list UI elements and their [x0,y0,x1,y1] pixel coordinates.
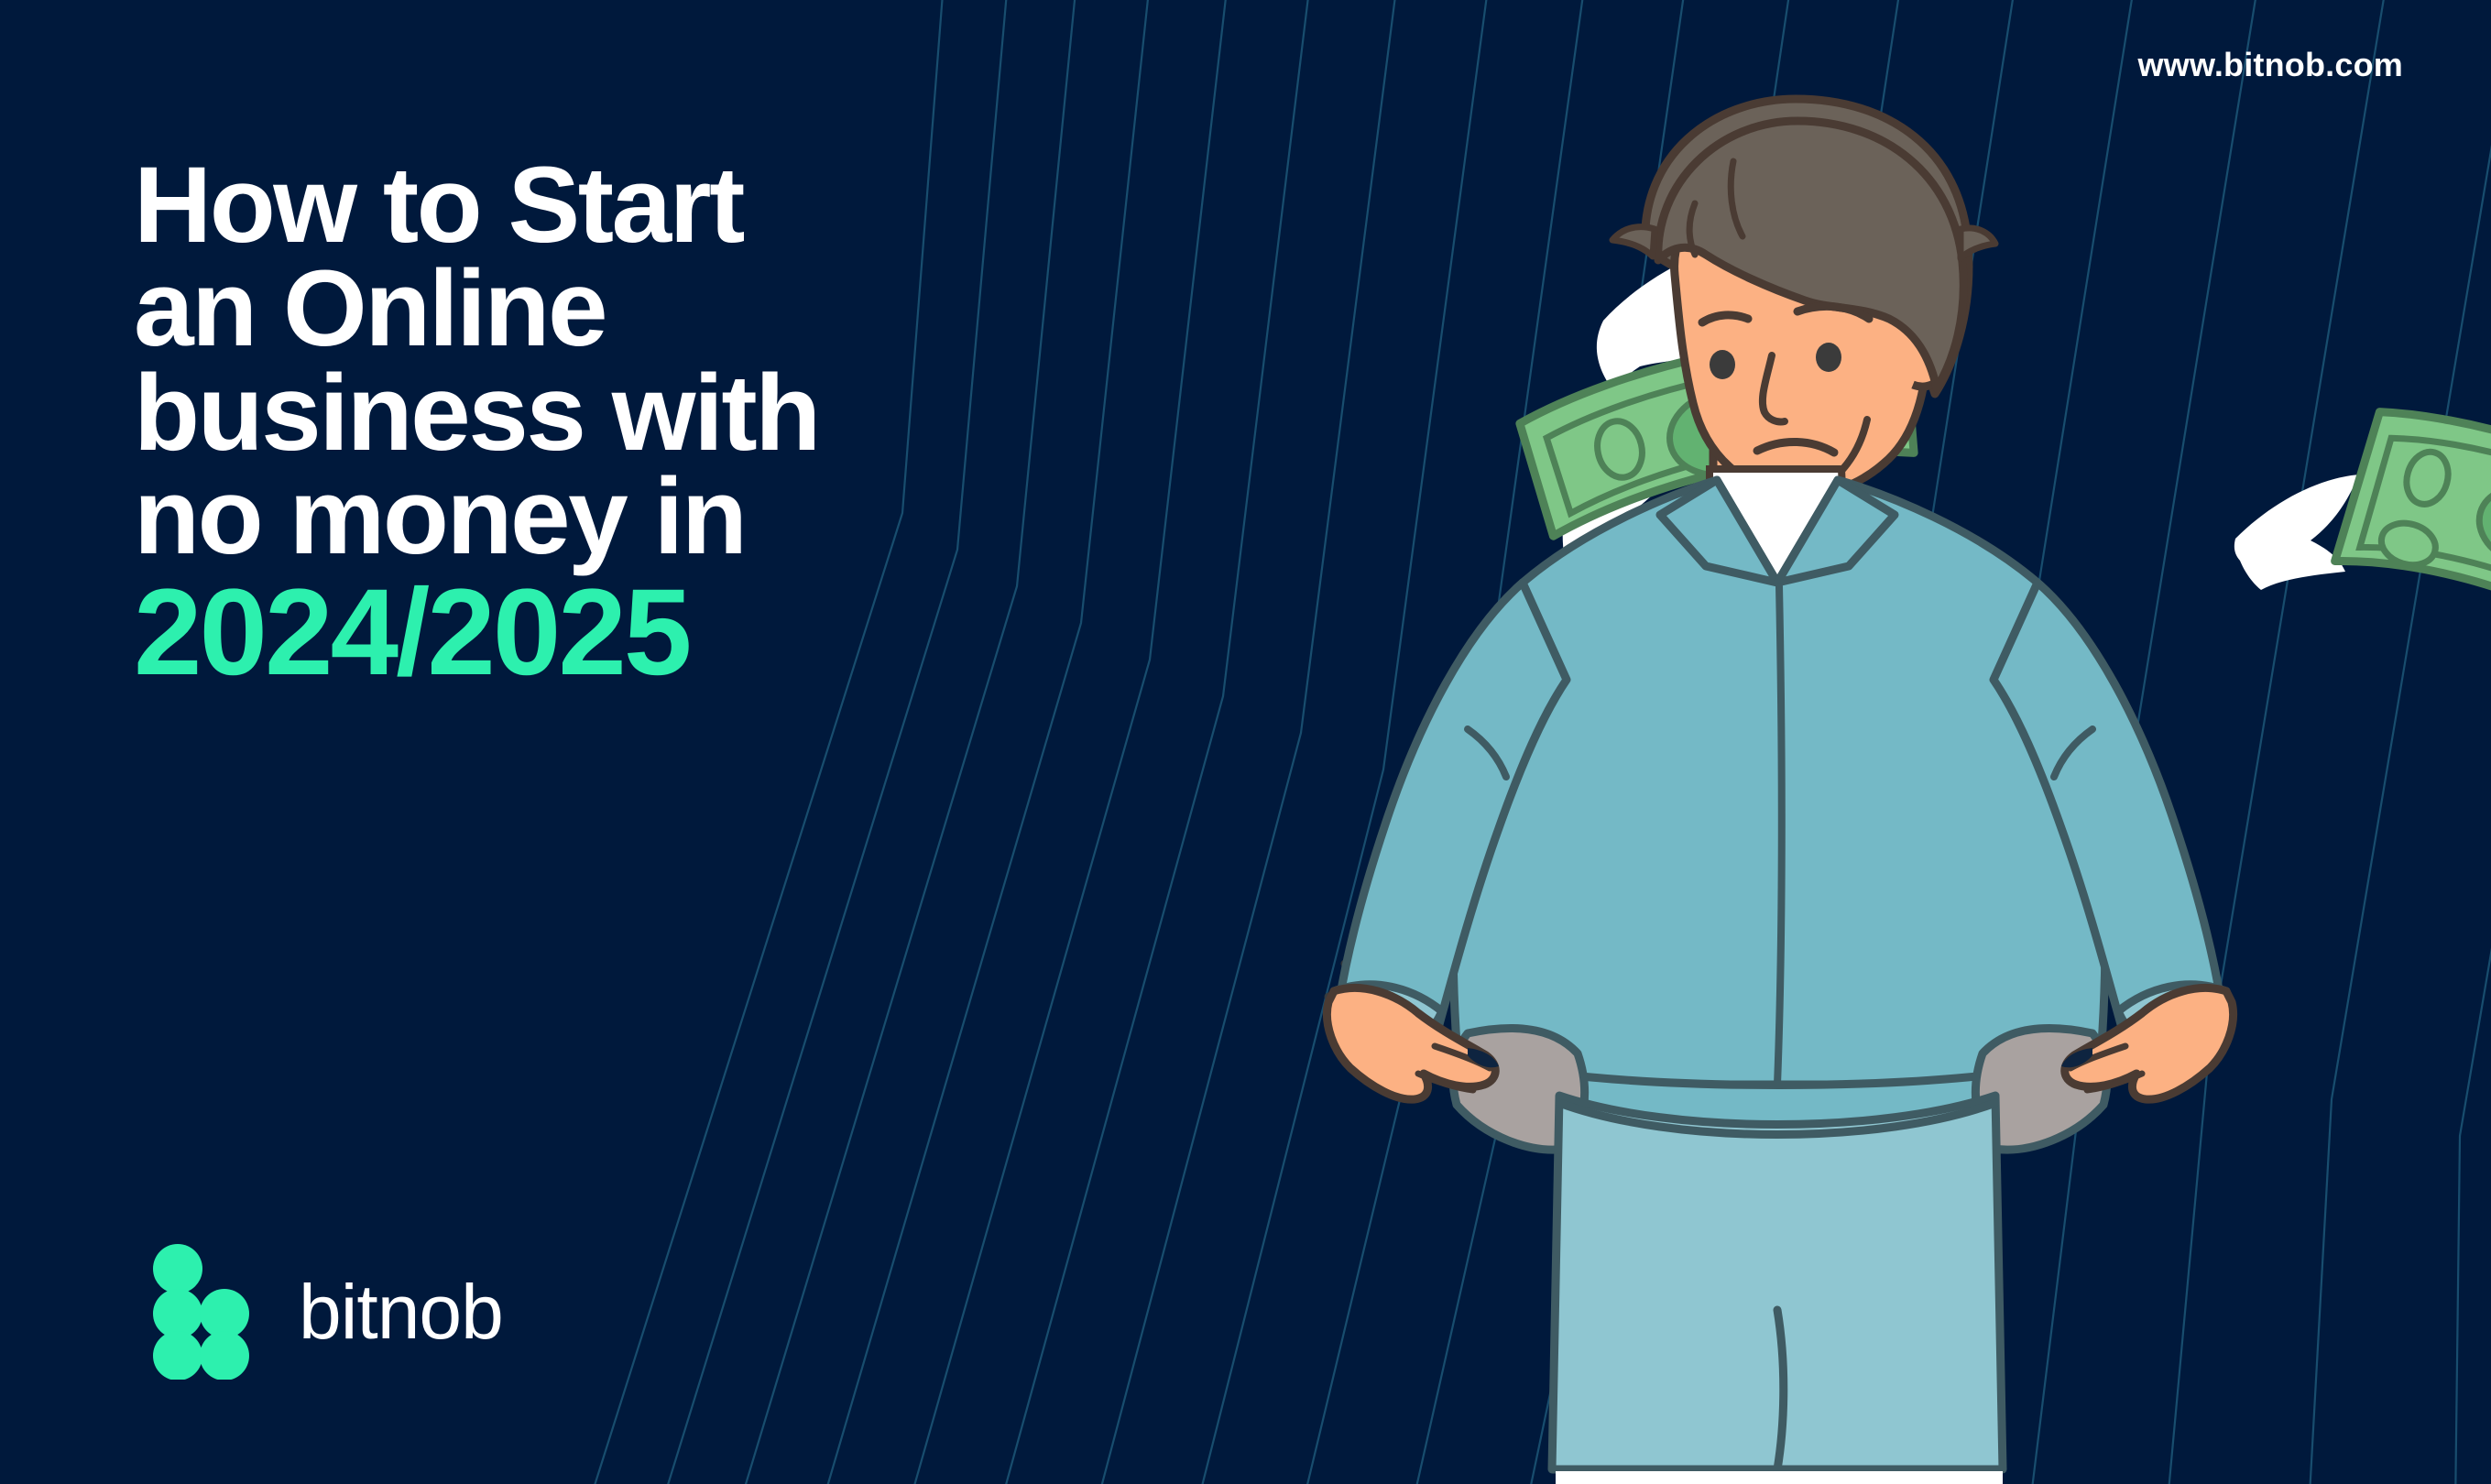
banner-canvas: www.bitnob.com How to Start an Online bu… [0,0,2491,1484]
headline-line-4: no money in [134,465,1050,569]
character-man [1327,99,2233,1484]
headline-line-3: business with [134,362,1050,465]
bitnob-wordmark: bitnob [299,1273,503,1350]
illustration-man-with-empty-pockets [1054,0,2491,1484]
headline-block: How to Start an Online business with no … [134,154,1050,696]
headline-year: 2024/2025 [134,569,1050,696]
headline-line-2: an Online [134,257,1050,361]
bitnob-logo[interactable]: bitnob [137,1244,503,1380]
headline-line-1: How to Start [134,154,1050,257]
flying-money-right [2234,398,2491,643]
bitnob-dots-logo-icon [137,1244,266,1380]
